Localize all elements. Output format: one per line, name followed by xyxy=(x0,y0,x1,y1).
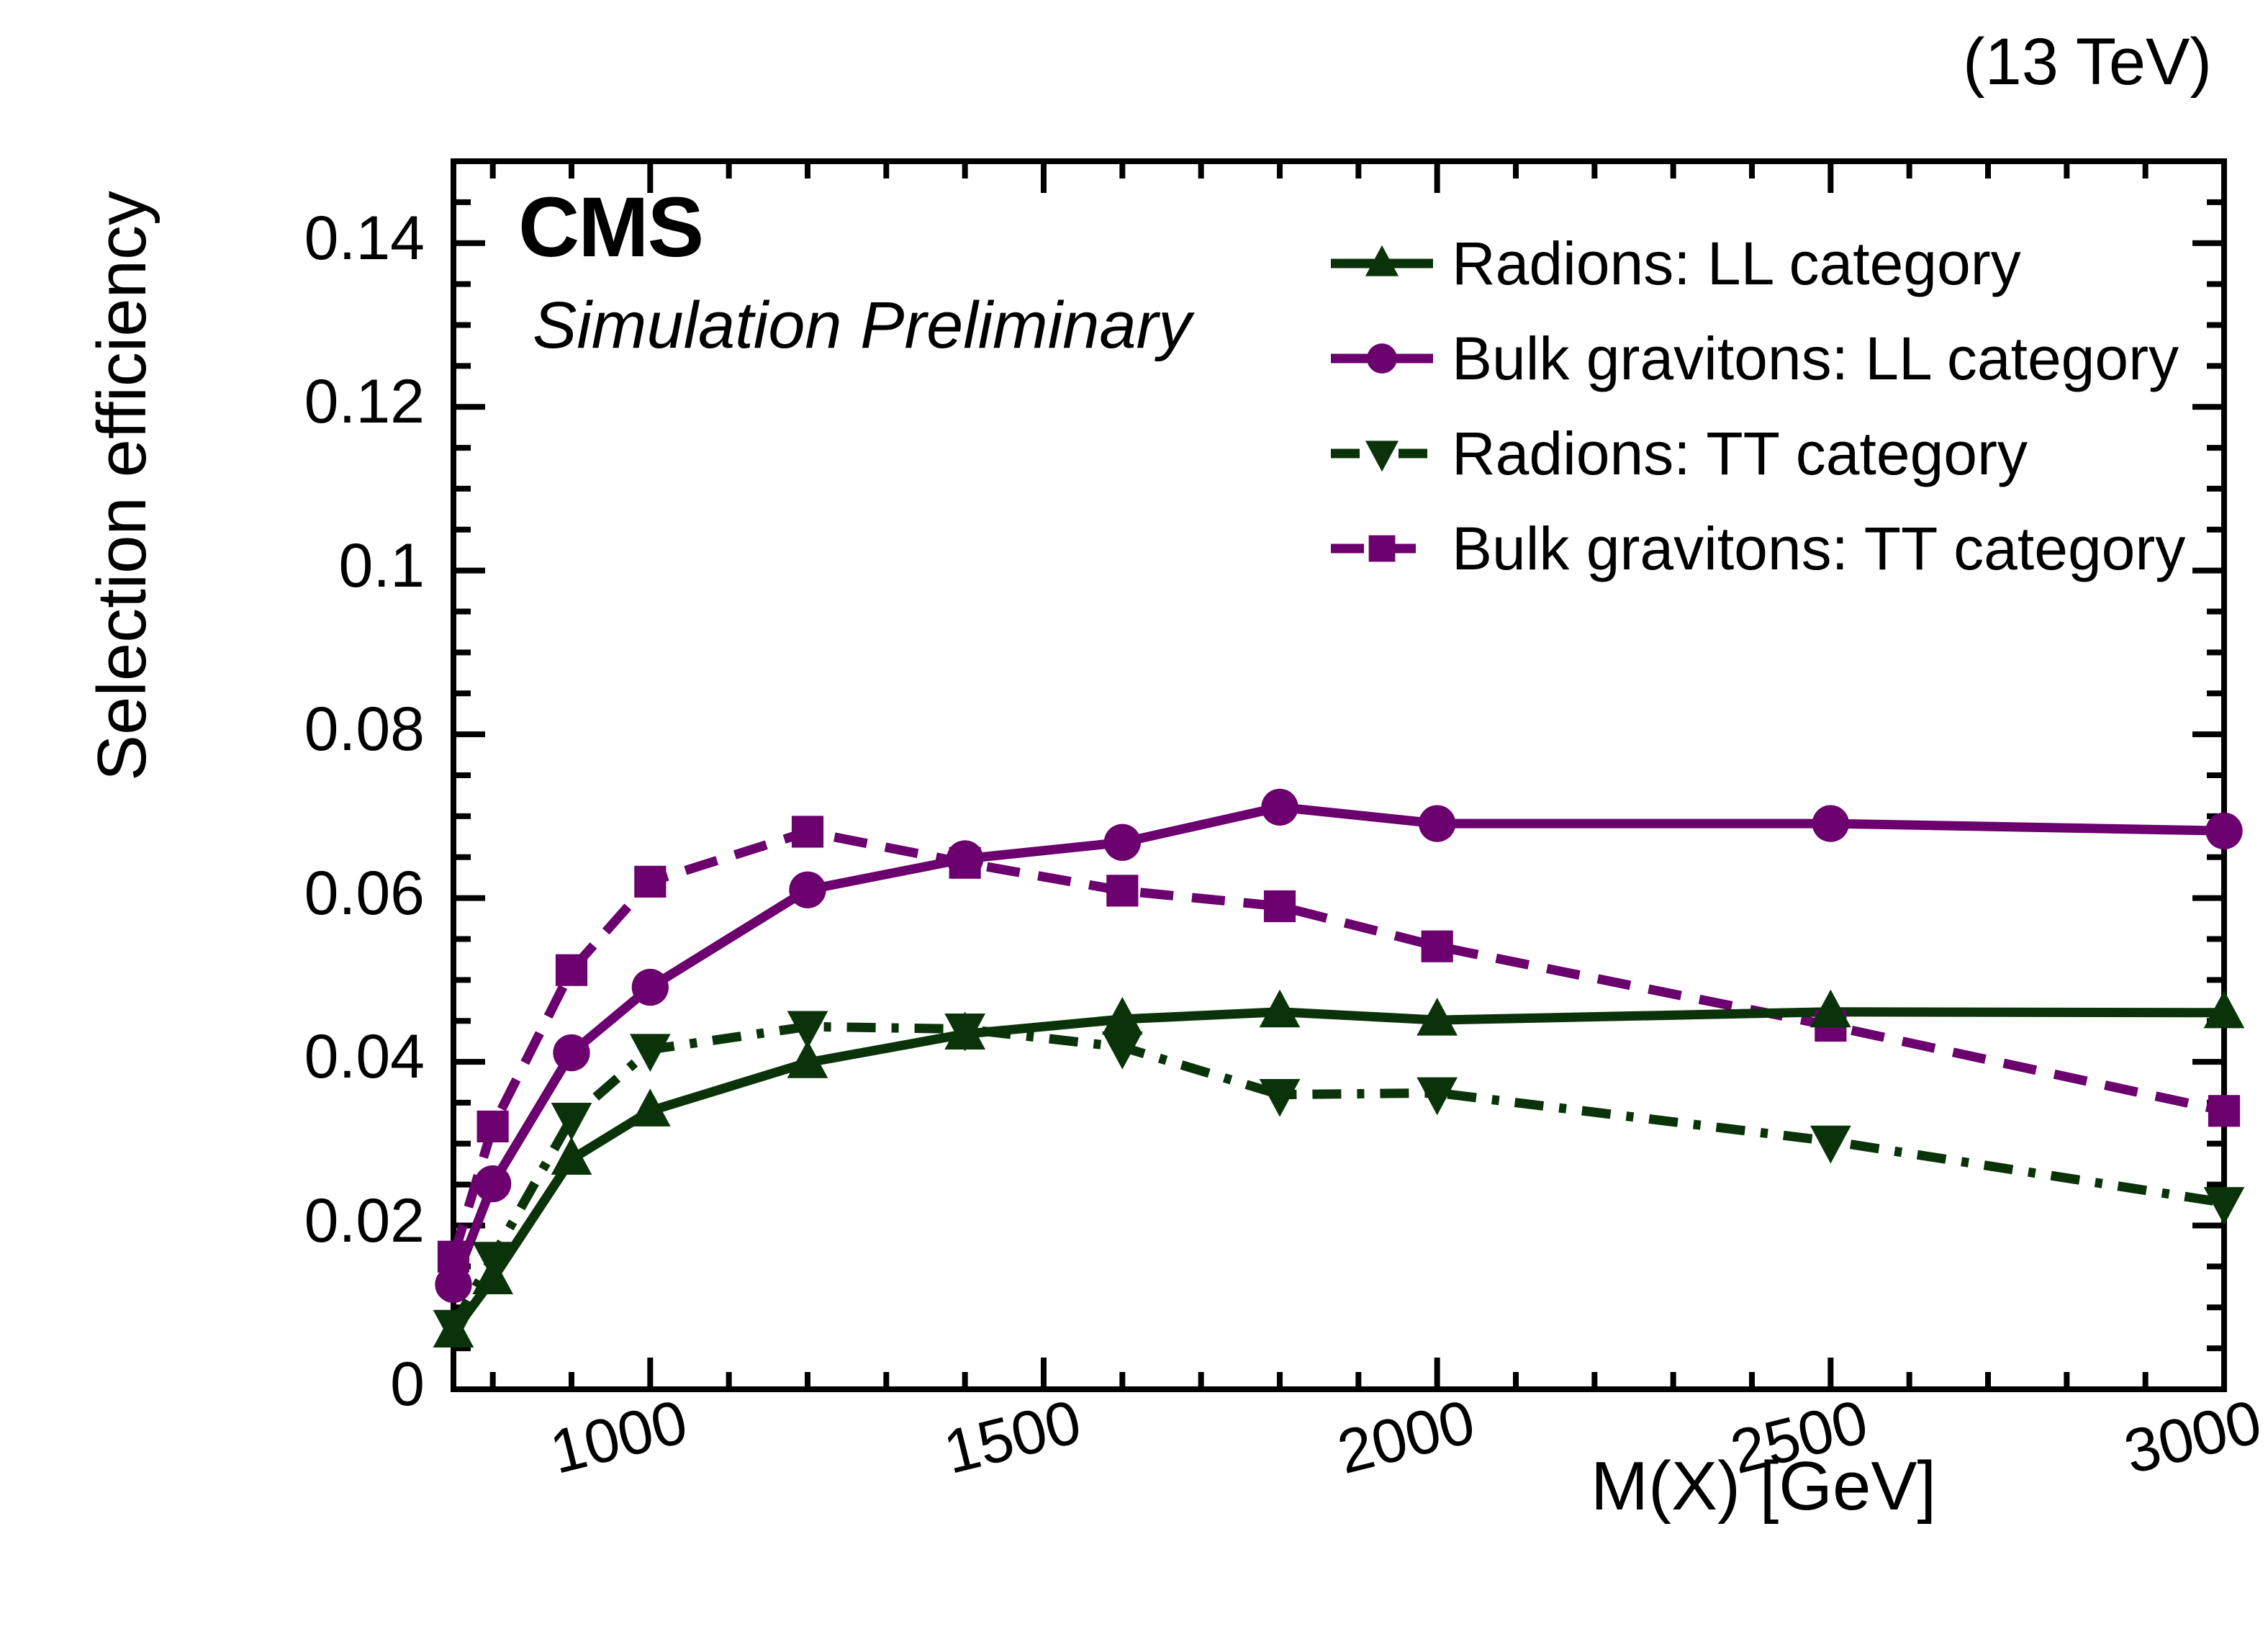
data-point-marker xyxy=(1106,875,1138,906)
triangle-down-icon xyxy=(1365,441,1399,471)
legend-item[interactable]: Bulk gravitons: TT category xyxy=(1328,501,2192,596)
data-point-marker xyxy=(1104,824,1141,861)
legend-item[interactable]: Radions: LL category xyxy=(1328,216,2192,311)
data-point-marker xyxy=(474,1165,511,1202)
data-point-marker xyxy=(634,866,666,898)
legend-label: Bulk gravitons: LL category xyxy=(1452,324,2179,394)
y-tick-label: 0.04 xyxy=(194,1021,425,1093)
data-point-marker xyxy=(2204,1187,2245,1225)
legend: Radions: LL categoryBulk gravitons: LL c… xyxy=(1328,216,2192,596)
series-line xyxy=(453,807,2224,1284)
data-point-marker xyxy=(1422,931,1453,962)
data-point-marker xyxy=(477,1111,509,1142)
chart-canvas: (13 TeV) Selection efficiency M(X) [GeV]… xyxy=(0,0,2268,1634)
legend-label: Radions: LL category xyxy=(1452,229,2021,299)
legend-key xyxy=(1328,337,1436,380)
series-line xyxy=(453,1012,2224,1332)
data-point-marker xyxy=(789,872,826,908)
data-point-marker xyxy=(1264,890,1296,922)
data-point-marker xyxy=(556,954,587,986)
data-point-marker xyxy=(1419,805,1455,841)
y-tick-label: 0.12 xyxy=(194,366,425,438)
data-point-marker xyxy=(435,1266,471,1303)
data-point-marker xyxy=(792,816,823,847)
legend-key xyxy=(1328,432,1436,475)
data-point-marker xyxy=(1261,789,1298,826)
square-icon xyxy=(1369,536,1396,562)
data-point-marker xyxy=(1812,805,1849,841)
data-point-marker xyxy=(2208,1095,2240,1127)
y-tick-label: 0.1 xyxy=(194,531,425,602)
data-point-marker xyxy=(632,969,669,1006)
legend-item[interactable]: Bulk gravitons: LL category xyxy=(1328,311,2192,406)
circle-icon xyxy=(1367,343,1397,374)
y-tick-label: 0.06 xyxy=(194,858,425,929)
legend-label: Radions: TT category xyxy=(1452,419,2028,489)
y-tick-label: 0.02 xyxy=(194,1186,425,1257)
data-point-marker xyxy=(946,840,983,877)
y-tick-label: 0.14 xyxy=(194,203,425,274)
data-point-marker xyxy=(2205,813,2242,849)
series-line xyxy=(453,1026,2224,1325)
legend-key xyxy=(1328,527,1436,570)
legend-label: Bulk gravitons: TT category xyxy=(1452,514,2185,584)
y-tick-label: 0 xyxy=(194,1349,425,1420)
y-tick-label: 0.08 xyxy=(194,694,425,765)
legend-item[interactable]: Radions: TT category xyxy=(1328,406,2192,501)
data-point-marker xyxy=(1810,1126,1851,1164)
data-point-marker xyxy=(553,1034,589,1071)
legend-key xyxy=(1328,242,1436,285)
